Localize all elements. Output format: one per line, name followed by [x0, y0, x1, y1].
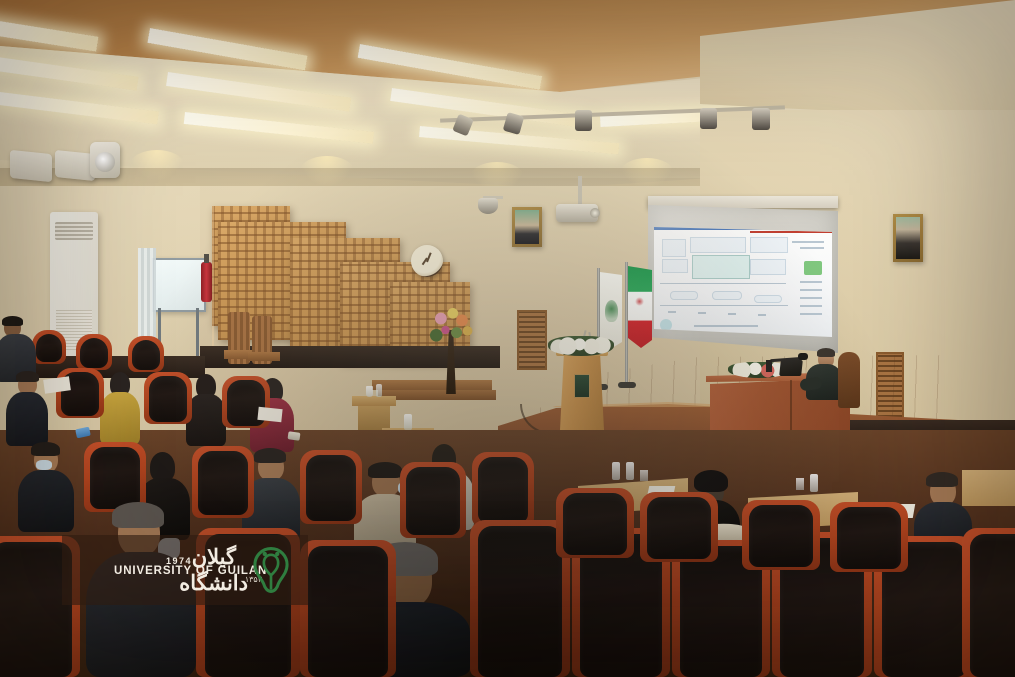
slide-cell: [712, 291, 742, 300]
auditorium-seat: [478, 526, 562, 677]
audience-torso: [100, 392, 140, 444]
dome-security-camera: [478, 198, 498, 214]
audience-hair: [694, 470, 728, 492]
auditorium-seat: [149, 376, 187, 422]
auditorium-seat: [406, 467, 460, 535]
slide-cell: [750, 237, 788, 253]
desk-microphone-head: [798, 353, 808, 360]
spotlight: [700, 108, 717, 129]
wooden-side-table: [352, 396, 396, 406]
flower-arrangement-center: [428, 308, 474, 352]
framed-portrait-right: [893, 214, 923, 262]
audience-hair: [254, 448, 286, 463]
auditorium-seat: [80, 338, 108, 368]
water-bottle: [376, 384, 382, 397]
water-bottle: [612, 462, 620, 480]
podium-emblem-plate: [574, 374, 590, 398]
front-row-desk: [962, 470, 1015, 506]
slide-sidebar-line: [800, 281, 822, 283]
framed-portrait-left: [512, 207, 542, 247]
slide-text-line: [800, 247, 824, 249]
audience-hair: [112, 502, 164, 528]
mobile-phone: [288, 431, 301, 441]
air-conditioner-grille: [55, 222, 93, 240]
slide-footer-line: [694, 325, 758, 327]
audience-hair: [2, 316, 23, 326]
slide-divider: [660, 283, 786, 284]
spotlight: [575, 110, 592, 131]
slide-cell: [690, 237, 746, 253]
drinking-glass: [796, 478, 804, 490]
speaker-cone: [95, 152, 115, 172]
logo-persian-name-line1: گیلان: [192, 545, 236, 571]
paper-sheet: [257, 407, 282, 422]
iran-flag-emblem: [635, 297, 644, 306]
iran-flag: [628, 266, 652, 348]
audience-hair: [31, 442, 60, 456]
face-mask: [36, 460, 52, 470]
whiteboard: [152, 258, 206, 312]
slide-logo-icon: [660, 319, 672, 331]
auditorium-seat: [308, 546, 388, 677]
auditorium-seat: [198, 451, 248, 515]
slide-sidebar-line: [800, 289, 822, 291]
laptop-on-desk: [779, 360, 803, 376]
slide-text-line: [668, 311, 676, 313]
slide-text-line: [728, 313, 736, 315]
stage-step: [372, 380, 492, 390]
audience-hair: [926, 472, 958, 487]
auditorium-seat: [306, 455, 356, 521]
desk-microphone-base: [766, 360, 772, 372]
wall-speaker: [10, 150, 52, 182]
slide-cell: [670, 291, 698, 300]
slide-cell: [750, 259, 786, 275]
guilan-emblem-icon: [244, 545, 298, 595]
auditorium-seat: [970, 534, 1015, 677]
logo-persian-name-line2: دانشگاه: [179, 571, 248, 596]
wooden-chair-seat: [248, 352, 280, 361]
slide-status-indicator: [804, 261, 822, 275]
auditorium-seat: [749, 505, 813, 567]
podium-flowers: [548, 336, 614, 356]
flag-pole: [625, 262, 628, 384]
water-bottle: [626, 462, 634, 480]
audience-torso: [6, 392, 48, 446]
slide-text-line: [758, 314, 766, 316]
slide-sidebar-line: [800, 305, 822, 307]
slide-divider: [660, 305, 788, 306]
auditorium-seat: [478, 457, 528, 523]
slide-sidebar-line: [800, 297, 822, 299]
desk-panel-seam: [790, 380, 792, 436]
projector-lens: [590, 208, 600, 218]
slide-cell: [662, 259, 688, 273]
conference-hall-photo: 1974 UNIVERSITY OF GUILAN گیلان دانشگاه …: [0, 0, 1015, 677]
projector-mount-pole: [578, 176, 582, 206]
projection-screen: [648, 205, 838, 353]
wooden-louvered-vent: [517, 310, 547, 370]
slide-highlight-box: [692, 255, 750, 279]
slide-cell: [662, 239, 686, 257]
spotlight: [752, 108, 770, 130]
auditorium-seat: [36, 334, 62, 362]
slide-accent-band: [750, 231, 832, 233]
water-bottle: [810, 474, 818, 492]
slide-sidebar-line: [800, 313, 822, 315]
wall-speaker: [55, 150, 95, 181]
flag-base: [618, 382, 636, 388]
slide-text-line: [792, 241, 824, 243]
audience-torso: [18, 470, 74, 532]
audience-torso: [186, 394, 226, 446]
auditorium-seat: [563, 493, 627, 555]
speaker-hair: [817, 348, 835, 357]
water-bottle: [404, 414, 412, 430]
auditorium-seat: [90, 447, 140, 509]
university-of-guilan-logo: 1974 UNIVERSITY OF GUILAN گیلان دانشگاه …: [62, 535, 308, 605]
fire-extinguisher: [201, 262, 212, 302]
slide-header-band: [654, 227, 832, 230]
slide-text-line: [698, 312, 706, 314]
projected-slide: [654, 227, 832, 337]
slide-cell: [754, 295, 782, 303]
drinking-glass: [366, 386, 373, 397]
fire-extinguisher-valve: [204, 254, 209, 263]
audience-hair: [16, 371, 39, 382]
speaker-chair: [838, 352, 860, 408]
drinking-glass: [640, 470, 648, 481]
audience-hair: [368, 462, 402, 478]
auditorium-seat: [132, 340, 160, 370]
auditorium-seat: [647, 497, 711, 559]
university-flag-emblem: [605, 300, 618, 322]
auditorium-seat: [837, 507, 901, 569]
